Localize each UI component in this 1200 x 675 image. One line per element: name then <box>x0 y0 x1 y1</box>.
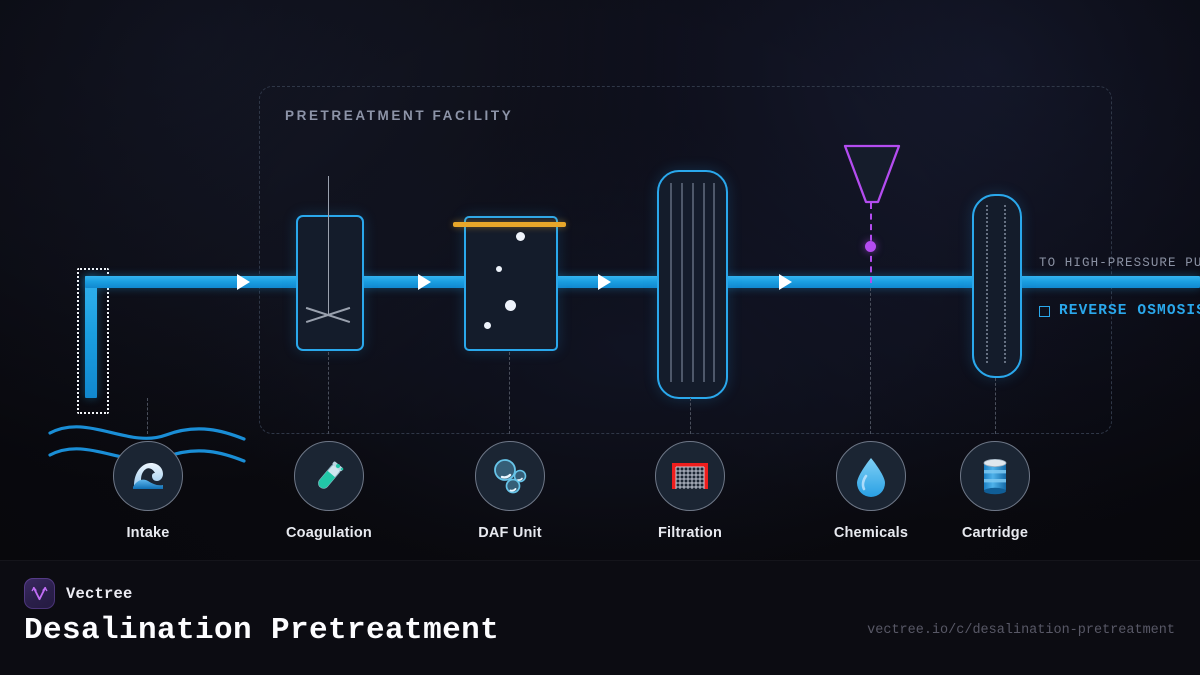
cartridge-element-line <box>1004 205 1006 363</box>
cartridge-element-line <box>986 205 988 363</box>
legend-circle-cartridge <box>960 441 1030 511</box>
pipe-coagulation-to-daf <box>357 276 465 288</box>
legend-label-cartridge: Cartridge <box>930 525 1060 541</box>
pipe-intake-to-coagulation <box>85 276 300 288</box>
daf-skimmer-bar <box>453 222 566 227</box>
mesh-icon <box>670 459 710 493</box>
connector-line-daf <box>509 352 510 434</box>
legend-item-cartridge[interactable]: Cartridge <box>930 441 1060 541</box>
flow-arrow <box>237 274 250 290</box>
flow-arrow <box>598 274 611 290</box>
daf-bubble <box>505 300 516 311</box>
droplet-icon <box>854 455 888 497</box>
legend-circle-coagulation <box>294 441 364 511</box>
legend-circle-filtration <box>655 441 725 511</box>
mixer-shaft <box>328 176 330 315</box>
legend-label-coagulation: Coagulation <box>264 525 394 541</box>
legend-label-filtration: Filtration <box>625 525 755 541</box>
legend-label-daf: DAF Unit <box>445 525 575 541</box>
filter-media-line <box>670 183 672 382</box>
barrel-icon <box>977 456 1013 496</box>
legend-circle-intake <box>113 441 183 511</box>
brand-block[interactable]: Vectree <box>24 578 133 609</box>
vectree-logo-icon <box>24 578 55 609</box>
stage-marker-icon <box>1039 306 1050 317</box>
connector-line-cartridge <box>995 378 996 434</box>
page-url: vectree.io/c/desalination-pretreatment <box>867 623 1175 638</box>
legend-item-coagulation[interactable]: Coagulation <box>264 441 394 541</box>
legend-item-chemicals[interactable]: Chemicals <box>806 441 936 541</box>
connector-line-filtration <box>690 398 691 434</box>
reverse-osmosis-label: REVERSE OSMOSIS <box>1059 303 1200 319</box>
legend-label-intake: Intake <box>83 525 213 541</box>
brand-name: Vectree <box>66 585 133 603</box>
legend-circle-daf <box>475 441 545 511</box>
footer-divider <box>0 560 1200 561</box>
pipe-filtration-to-cartridge <box>722 276 974 288</box>
facility-label: PRETREATMENT FACILITY <box>285 108 513 123</box>
flow-arrow <box>418 274 431 290</box>
daf-bubble <box>516 232 525 241</box>
cartridge-filter-vessel <box>972 194 1022 378</box>
legend-circle-chemicals <box>836 441 906 511</box>
chemical-dosing-funnel <box>843 144 901 206</box>
connector-line-chemicals <box>870 288 871 434</box>
pipe-cartridge-to-ro <box>1016 276 1200 288</box>
intake-structure-outline <box>77 268 109 414</box>
filter-media-line <box>681 183 683 382</box>
connector-line-coagulation <box>328 352 329 434</box>
bubbles-icon <box>489 455 531 497</box>
diagram-canvas: PRETREATMENT FACILITY TO HIGH-PR <box>0 0 1200 675</box>
daf-bubble <box>496 266 502 272</box>
wave-icon <box>128 456 168 496</box>
legend-item-daf[interactable]: DAF Unit <box>445 441 575 541</box>
legend-item-filtration[interactable]: Filtration <box>625 441 755 541</box>
filter-media-line <box>703 183 705 382</box>
filter-media-line <box>713 183 715 382</box>
outlet-note-label: TO HIGH-PRESSURE PUMP <box>1039 256 1200 270</box>
daf-flotation-basin <box>464 216 558 351</box>
legend-label-chemicals: Chemicals <box>806 525 936 541</box>
filter-media-line <box>692 183 694 382</box>
legend-item-intake[interactable]: Intake <box>83 441 213 541</box>
chemical-injection-point <box>865 241 876 252</box>
flow-arrow <box>779 274 792 290</box>
test-tube-icon <box>309 456 349 496</box>
page-title: Desalination Pretreatment <box>24 613 499 648</box>
connector-line-intake <box>147 398 148 434</box>
coagulation-mixer-tank <box>296 215 364 351</box>
reverse-osmosis-tag: REVERSE OSMOSIS <box>1039 303 1200 319</box>
daf-bubble <box>484 322 491 329</box>
